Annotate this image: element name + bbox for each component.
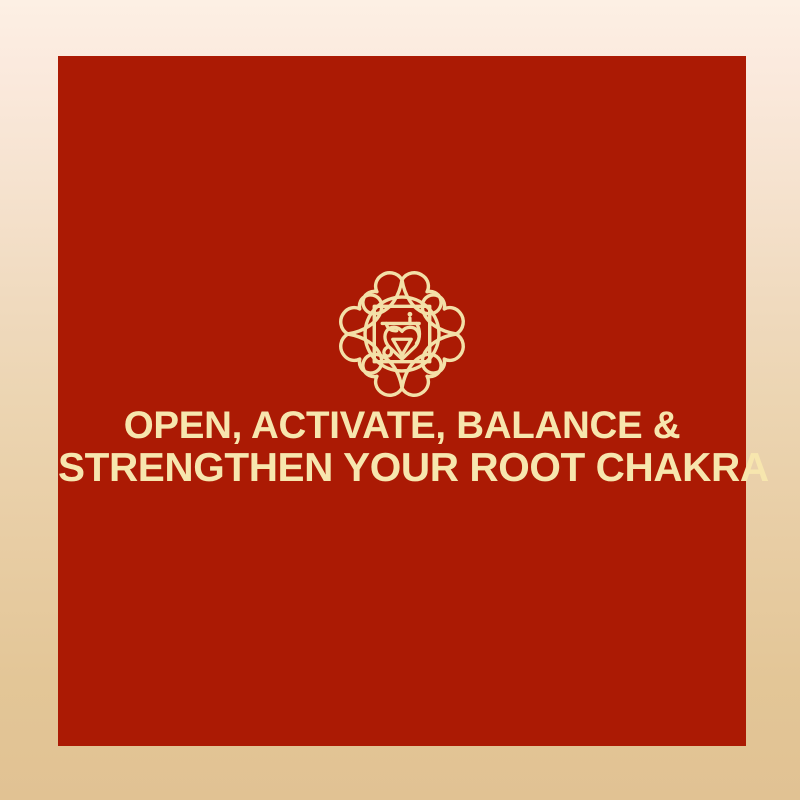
bija-bindu-dot	[408, 312, 413, 317]
root-chakra-card: OPEN, ACTIVATE, BALANCE & STRENGTHEN YOU…	[58, 56, 746, 746]
root-chakra-emblem	[336, 268, 468, 400]
page-title: OPEN, ACTIVATE, BALANCE & STRENGTHEN YOU…	[58, 405, 746, 490]
muladhara-icon	[336, 268, 468, 400]
lam-bija-mantra	[382, 312, 419, 359]
poster-canvas: OPEN, ACTIVATE, BALANCE & STRENGTHEN YOU…	[0, 0, 800, 800]
headline-line-2: STRENGTHEN YOUR ROOT CHAKRA	[58, 446, 746, 489]
headline-line-1: OPEN, ACTIVATE, BALANCE &	[58, 405, 746, 446]
